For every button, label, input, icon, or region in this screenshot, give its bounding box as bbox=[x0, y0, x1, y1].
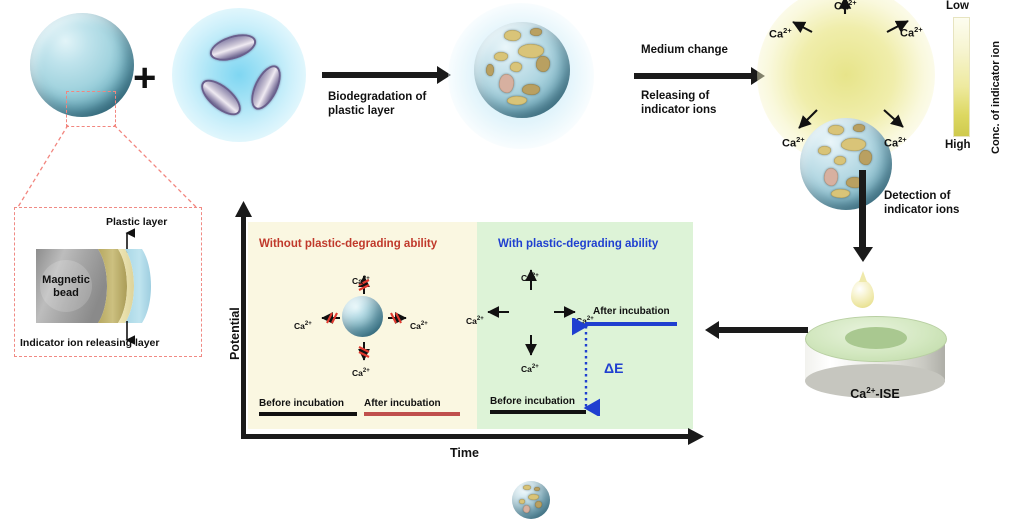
plastic-layer-label: Plastic layer bbox=[106, 216, 167, 228]
chart-y-axis-label: Potential bbox=[228, 307, 243, 360]
signal-readout-arrow bbox=[718, 327, 808, 333]
chart-degraded-bead bbox=[512, 481, 550, 519]
detection-arrow bbox=[859, 170, 866, 248]
plus-symbol: + bbox=[133, 56, 156, 101]
chart-x-axis-label: Time bbox=[450, 446, 479, 461]
ca-ion-text: Ca bbox=[521, 364, 532, 374]
ca-ion-text: Ca bbox=[769, 29, 783, 41]
colorbar-gradient bbox=[953, 17, 970, 137]
bacterium-2 bbox=[195, 73, 247, 121]
ca-ion-text: Ca bbox=[466, 316, 477, 326]
chart-ion-label-right-left-panel: Ca2+ bbox=[410, 311, 428, 331]
ca-ion-text: Ca bbox=[294, 321, 305, 331]
indicator-layer-label: Indicator ion releasing layer bbox=[20, 337, 159, 349]
ca-ion-text: Ca bbox=[410, 321, 421, 331]
ca-ion-charge: 2+ bbox=[421, 321, 428, 327]
figure-canvas: + Biodegradation of plastic layer Medium… bbox=[0, 0, 1024, 481]
chart-ion-label-left-right-panel: Ca2+ bbox=[466, 306, 484, 326]
chart-ion-label-bottom-right-panel: Ca2+ bbox=[521, 354, 539, 374]
ca-ion-label-top: Ca2+ bbox=[834, 0, 857, 14]
ca-ion-text: Ca bbox=[782, 138, 796, 150]
ca-ion-label-bottom-right: Ca2+ bbox=[884, 123, 907, 151]
chart-ion-label-top-right-panel: Ca2+ bbox=[521, 263, 539, 283]
ca-ion-charge: 2+ bbox=[796, 135, 805, 144]
chart-y-axis-arrowhead bbox=[234, 201, 254, 219]
chart-x-axis bbox=[241, 434, 690, 439]
colorbar-high-label: High bbox=[945, 139, 971, 153]
ise-label-ca: Ca bbox=[850, 387, 866, 401]
droplet-icon bbox=[851, 280, 874, 308]
ca-ion-text: Ca bbox=[352, 368, 363, 378]
legend-label-after-with: After incubation bbox=[593, 306, 670, 318]
bacterium-3 bbox=[245, 61, 287, 114]
ca-ion-text: Ca bbox=[884, 138, 898, 150]
ca-ion-charge: 2+ bbox=[532, 273, 539, 279]
releasing-ions-label: Releasing of indicator ions bbox=[641, 90, 716, 117]
chart-panel-without-title: Without plastic-degrading ability bbox=[259, 238, 437, 252]
bacteria-halo bbox=[172, 8, 306, 142]
delta-e-indicator bbox=[572, 318, 600, 416]
legend-label-before-with: Before incubation bbox=[490, 396, 575, 408]
magnetic-bead-label: Magnetic bead bbox=[38, 274, 94, 300]
chart-ion-label-left-left-panel: Ca2+ bbox=[294, 311, 312, 331]
detection-label: Detection of indicator ions bbox=[884, 190, 959, 217]
medium-change-label: Medium change bbox=[641, 44, 728, 58]
legend-line-before-without bbox=[259, 412, 357, 416]
inset-leader-lines bbox=[0, 115, 220, 215]
ca-ion-charge: 2+ bbox=[848, 0, 857, 7]
chart-ion-label-top-left-panel: Ca2+ bbox=[352, 266, 370, 286]
delta-e-label: ΔE bbox=[604, 360, 623, 377]
ca-ion-charge: 2+ bbox=[532, 364, 539, 370]
ca-ion-text: Ca bbox=[834, 1, 848, 13]
ca-ion-text: Ca bbox=[900, 28, 914, 40]
legend-label-after-without: After incubation bbox=[364, 398, 441, 410]
colorbar-low-label: Low bbox=[946, 0, 969, 14]
ca-ion-charge: 2+ bbox=[477, 316, 484, 322]
ise-label-suffix: -ISE bbox=[875, 387, 899, 401]
biodegradation-arrow bbox=[322, 72, 438, 78]
ise-label: Ca2+-ISE bbox=[805, 371, 945, 402]
ca-ion-charge: 2+ bbox=[783, 26, 792, 35]
ca-ion-text: Ca bbox=[521, 273, 532, 283]
bacterium-1 bbox=[207, 29, 260, 66]
biodegradation-label: Biodegradation of plastic layer bbox=[328, 91, 426, 118]
chart-panel-with-title: With plastic-degrading ability bbox=[498, 238, 658, 252]
ca-ion-label-left: Ca2+ bbox=[769, 14, 792, 42]
colorbar-axis-label: Conc. of indicator ion bbox=[990, 41, 1003, 154]
ca-ion-charge: 2+ bbox=[898, 135, 907, 144]
chart-x-axis-arrowhead bbox=[686, 428, 704, 446]
legend-line-after-without bbox=[364, 412, 460, 416]
ca-ion-charge: 2+ bbox=[305, 321, 312, 327]
ise-sensing-membrane bbox=[845, 327, 907, 349]
ca-ion-label-right: Ca2+ bbox=[900, 13, 923, 41]
ca-ion-charge: 2+ bbox=[363, 368, 370, 374]
degraded-bead-sphere bbox=[474, 22, 570, 118]
ca-ion-label-bottom-left: Ca2+ bbox=[782, 123, 805, 151]
ca-ion-charge: 2+ bbox=[363, 276, 370, 282]
legend-label-before-without: Before incubation bbox=[259, 398, 344, 410]
medium-change-arrow bbox=[634, 73, 752, 79]
ca-ion-text: Ca bbox=[352, 276, 363, 286]
chart-ion-label-bottom-left-panel: Ca2+ bbox=[352, 358, 370, 378]
ca-ion-charge: 2+ bbox=[914, 25, 923, 34]
